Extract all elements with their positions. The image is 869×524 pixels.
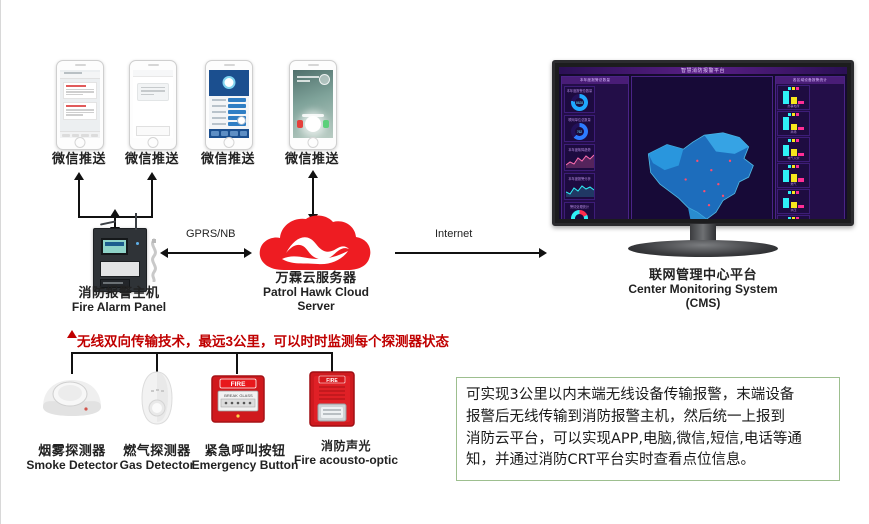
note-line: 消防云平台，可以实现APP,电脑,微信,短信,电话等通: [466, 429, 830, 451]
cloud-server-label: 万霖云服务器 Patrol Hawk Cloud Server: [246, 271, 386, 314]
panel-led-icon: [136, 242, 139, 245]
app-titlebar: [60, 72, 100, 79]
stat-cell: 本年度报警分析: [564, 173, 595, 200]
legend-dots: [788, 87, 799, 90]
stat-cell: 本年度报警总数量 8628: [564, 86, 595, 113]
dashboard-right-column: 各区域设备报警统计 办事处所: [775, 76, 845, 219]
home-button: [308, 137, 319, 148]
home-button: [148, 137, 159, 148]
donut-chart: [571, 210, 588, 219]
dashboard-middle-column: 正在警情分析处理中 · · · 某某某智能消防报警主机，信息点位，区域编号设备离…: [631, 76, 773, 219]
svg-text:FIRE: FIRE: [231, 381, 246, 388]
answer-glow: [305, 116, 321, 132]
mini-bar-chart: [783, 117, 804, 130]
arrow-up-phone2: [147, 172, 157, 180]
phone-screen: [133, 70, 173, 138]
article-card: [63, 102, 97, 119]
stat-cell: 警情处理统计: [564, 202, 595, 219]
arrow-right-cloud: [244, 248, 252, 258]
stats-grid: 本年度报警总数量 8628 联网单位总数量 762: [562, 84, 628, 219]
chat-input: [136, 126, 170, 136]
arrow-up-bracket: [110, 209, 120, 217]
link-label-internet: Internet: [435, 228, 472, 240]
arrow-up-phone1: [74, 172, 84, 180]
connector-phone1-vert: [78, 180, 80, 218]
fire-alarm-panel: [93, 228, 147, 292]
decline-icon: [297, 120, 303, 128]
legend-dots: [788, 113, 799, 116]
app-list-row: [212, 110, 246, 114]
phone-app-dashboard: [205, 60, 253, 150]
dashboard-left-column: 本年度报警总数量 本年度报警总数量 8628 联网: [561, 76, 629, 219]
phone-speaker: [290, 61, 336, 69]
svg-text:FIRE: FIRE: [326, 378, 338, 384]
phone-speaker: [57, 61, 103, 69]
stat-cell: 联网单位总数量 762: [564, 115, 595, 142]
dashboard-screen: 智慧消防报警平台 本年度报警总数量 本年度报警总数量: [559, 67, 847, 219]
connector-cloud-cms: [395, 252, 541, 254]
description-note: 可实现3公里以内末端无线设备传输报警，末端设备 报警后无线传输到消防报警主机，然…: [456, 377, 840, 481]
note-line: 报警后无线传输到消防报警主机，然后统一上报到: [466, 407, 830, 429]
gas-detector-icon: [140, 370, 172, 422]
arrow-up-wireless: [67, 330, 77, 338]
home-button: [75, 137, 86, 148]
svg-text:GLASS: GLASS: [239, 393, 253, 398]
dashboard-body: 本年度报警总数量 本年度报警总数量 8628 联网: [559, 74, 847, 219]
home-button: [224, 137, 235, 148]
cms-label: 联网管理中心平台 Center Monitoring System (CMS): [623, 268, 783, 311]
panel-door: [100, 261, 140, 277]
china-map: [631, 76, 773, 219]
detector-bracket-horiz: [71, 352, 333, 354]
connector-phone2-vert: [151, 180, 153, 218]
legend-dots: [788, 139, 799, 142]
monitor-bezel: 智慧消防报警平台 本年度报警总数量 本年度报警总数量: [552, 60, 854, 226]
phone-speaker: [206, 61, 252, 69]
fire-sounder-label: 消防声光 Fire acousto-optic: [284, 440, 408, 468]
app-titlebar: [133, 70, 173, 77]
smoke-detector-icon: [41, 376, 101, 412]
arrow-right-cms: [539, 248, 547, 258]
arrow-up-phone4: [308, 170, 318, 178]
antenna-icon: [135, 213, 137, 230]
sparkline-chart: [566, 153, 594, 168]
panel-display: [101, 238, 128, 255]
region-cell: 商场: [777, 111, 810, 136]
phone-screen: [60, 70, 100, 138]
stats-panel-title: 本年度报警总数量: [562, 77, 628, 84]
region-cell: 水压: [777, 189, 810, 214]
caller-avatar: [319, 74, 330, 85]
detector-drop-3: [236, 352, 238, 374]
legend-dots: [788, 165, 799, 168]
mini-bar-chart: [783, 91, 804, 104]
note-line: 可实现3公里以内末端无线设备传输报警，末端设备: [466, 385, 830, 407]
connector-panel-cloud: [168, 252, 244, 254]
emergency-button-icon: FIRE BREAK GLASS: [211, 375, 263, 421]
dashboard-title-text: 智慧消防报警平台: [681, 67, 725, 74]
phone-incoming-call: [289, 60, 337, 150]
panel-cable: [147, 238, 159, 280]
accept-icon: [323, 120, 329, 128]
phone-wechat-article: [56, 60, 104, 150]
region-stats-grid: 办事处所 商场 电气火灾: [776, 84, 844, 219]
phone-screen: [209, 70, 249, 138]
connector-phone4-vert: [312, 178, 314, 216]
phone-speaker: [130, 61, 176, 69]
region-cell: 燃气: [777, 163, 810, 188]
cms-monitor: 智慧消防报警平台 本年度报警总数量 本年度报警总数量: [552, 60, 854, 260]
diagram-canvas: 微信推送 微信推送 微信推送 微信推送 消防报警主机 Fire Alarm Pa…: [1, 0, 869, 524]
dashboard-title: 智慧消防报警平台: [559, 67, 847, 74]
phone-label-2: 微信推送: [112, 152, 192, 167]
floating-action-button: [237, 116, 246, 125]
monitor-stand-base: [628, 240, 778, 257]
stats-panel: 本年度报警总数量 本年度报警总数量 8628 联网: [561, 76, 629, 219]
phone-label-3: 微信推送: [188, 152, 268, 167]
fire-sounder-icon: FIRE: [309, 371, 353, 425]
app-list-row: [212, 98, 246, 102]
phone-screen: [293, 70, 333, 138]
app-list-row: [212, 104, 246, 108]
mini-bar-chart: [783, 143, 804, 156]
article-card: [63, 82, 97, 99]
arrow-left-panel: [160, 248, 168, 258]
region-stats-title: 各区域设备报警统计: [776, 77, 844, 84]
region-cell: 电气火灾: [777, 137, 810, 162]
cloud-server-icon: [256, 213, 374, 275]
donut-chart: 762: [571, 123, 588, 140]
note-line: 知，并通过消防CRT平台实时查看点位信息。: [466, 450, 830, 472]
sparkline-chart: [566, 182, 594, 197]
donut-chart: 8628: [571, 94, 588, 111]
chat-bubble: [137, 83, 169, 101]
fire-alarm-panel-label: 消防报警主机 Fire Alarm Panel: [59, 286, 179, 315]
svg-text:BREAK: BREAK: [224, 393, 238, 398]
wireless-banner-text: 无线双向传输技术，最远3公里，可以时时监测每个探测器状态: [77, 330, 449, 350]
phone-wechat-chat: [129, 60, 177, 150]
link-label-gprs: GPRS/NB: [186, 228, 236, 240]
mini-bar-chart: [783, 169, 804, 182]
legend-dots: [788, 217, 799, 219]
phone-label-1: 微信推送: [39, 152, 119, 167]
mini-bar-chart: [783, 195, 804, 208]
app-header: [209, 70, 249, 96]
region-cell: 烟感及人员疏散: [777, 215, 810, 219]
region-stats-panel: 各区域设备报警统计 办事处所: [775, 76, 845, 219]
stat-cell: 本年度故障趋势: [564, 144, 595, 171]
region-cell: 办事处所: [777, 85, 810, 110]
detector-drop-1: [71, 352, 73, 374]
phone-label-4: 微信推送: [272, 152, 352, 167]
legend-dots: [788, 191, 799, 194]
